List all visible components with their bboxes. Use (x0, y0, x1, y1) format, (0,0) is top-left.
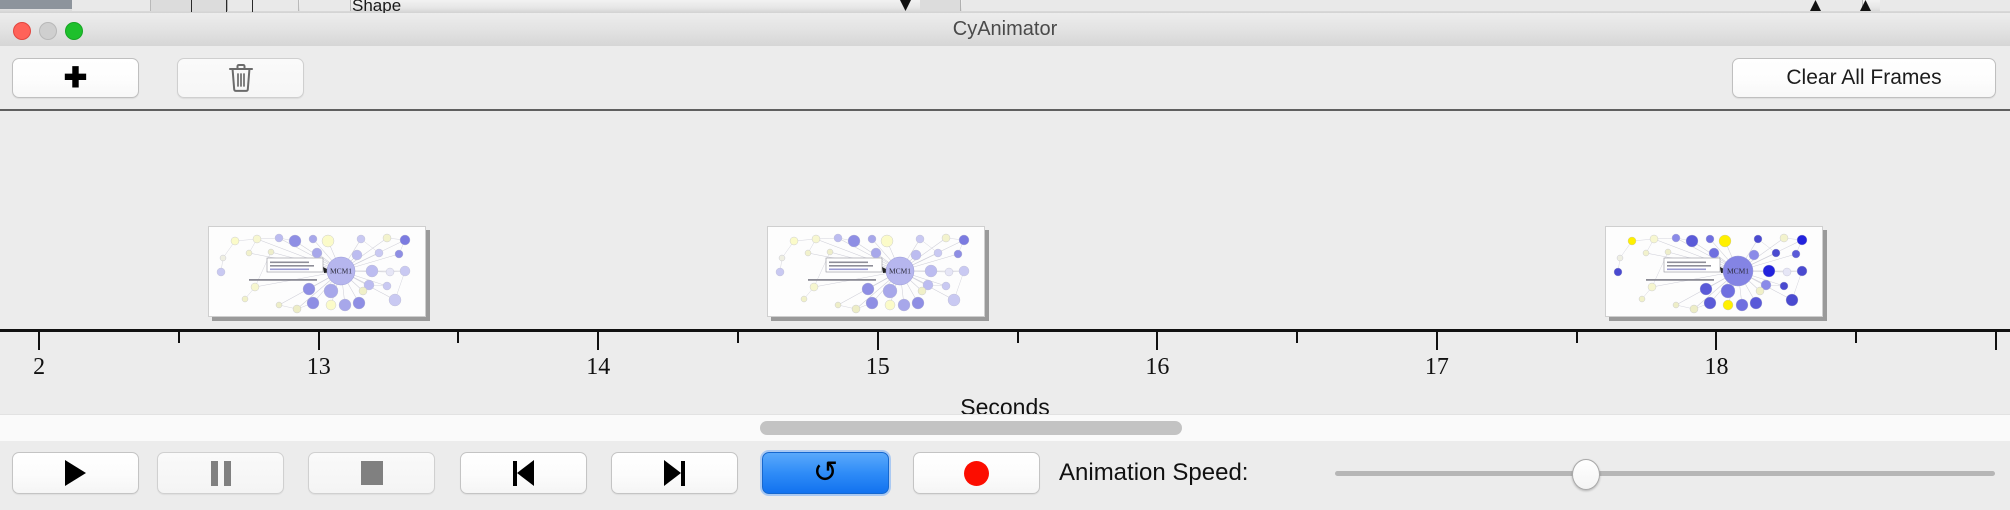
axis-tick-minor (1017, 332, 1019, 343)
delete-frame-button[interactable] (177, 58, 304, 98)
axis-tick-major (1156, 332, 1158, 350)
axis-tick-minor (1855, 332, 1857, 343)
timeline-frame[interactable]: MCM1 (1605, 226, 1827, 321)
axis-tick-major (1715, 332, 1717, 350)
frame-thumbnail[interactable]: MCM1 (767, 226, 985, 317)
skip-forward-icon (664, 460, 685, 486)
window-title: CyAnimator (0, 13, 2010, 46)
axis-tick-major (318, 332, 320, 350)
stop-button[interactable] (308, 452, 435, 494)
axis-tick-label: 17 (1425, 354, 1449, 381)
trash-icon (228, 63, 254, 93)
clear-all-frames-label: Clear All Frames (1786, 66, 1941, 90)
axis-tick-major (597, 332, 599, 350)
playback-controls: ↺ Animation Speed: (0, 441, 2010, 510)
axis-tick-label: 16 (1145, 354, 1169, 381)
record-button[interactable] (913, 452, 1040, 494)
timeline-frame[interactable]: MCM1 (208, 226, 430, 321)
axis-tick-label: 14 (586, 354, 610, 381)
axis-tick-major (1436, 332, 1438, 350)
svg-text:MCM1: MCM1 (889, 267, 911, 276)
axis-tick-minor (457, 332, 459, 343)
timeline-panel[interactable]: 2131415161718 MCM1MCM1MCM1 Seconds (0, 111, 2010, 414)
loop-button[interactable]: ↺ (762, 452, 889, 494)
scrollbar-thumb[interactable] (760, 421, 1182, 435)
timeline-axis-line (0, 329, 2010, 332)
animation-speed-label: Animation Speed: (1059, 452, 1248, 494)
axis-tick-minor (737, 332, 739, 343)
play-icon (65, 460, 86, 486)
slider-track (1335, 471, 1995, 476)
axis-title: Seconds (0, 394, 2010, 414)
cyanimator-window: Shape CyAnimator ✚ Clear All (0, 0, 2010, 510)
axis-tick-label: 2 (33, 354, 45, 381)
skip-back-icon (513, 460, 534, 486)
title-bar: CyAnimator (0, 13, 2010, 47)
background-dark-tab (0, 0, 72, 9)
axis-tick-minor (1576, 332, 1578, 343)
background-window-label: Shape (352, 0, 401, 13)
svg-text:MCM1: MCM1 (1727, 267, 1749, 276)
background-segment (228, 0, 299, 11)
frame-thumbnail[interactable]: MCM1 (208, 226, 426, 317)
axis-tick-label: 18 (1704, 354, 1728, 381)
pause-button[interactable] (157, 452, 284, 494)
loop-icon: ↺ (813, 458, 838, 488)
axis-tick-label: 15 (866, 354, 890, 381)
background-segment (192, 0, 228, 11)
axis-tick-label: 13 (307, 354, 331, 381)
skip-forward-button[interactable] (611, 452, 738, 494)
add-frame-button[interactable]: ✚ (12, 58, 139, 98)
clear-all-frames-button[interactable]: Clear All Frames (1732, 58, 1996, 98)
skip-back-button[interactable] (460, 452, 587, 494)
slider-thumb[interactable] (1572, 459, 1600, 490)
background-segment (920, 0, 961, 11)
frame-thumbnail[interactable]: MCM1 (1605, 226, 1823, 317)
axis-tick-minor (1296, 332, 1298, 343)
svg-text:MCM1: MCM1 (330, 267, 352, 276)
background-segment (151, 0, 192, 11)
background-segment (962, 0, 1863, 11)
record-icon (964, 461, 989, 486)
axis-tick-major (1995, 332, 1997, 350)
frame-toolbar: ✚ Clear All Frames (0, 46, 2010, 110)
background-notch (900, 0, 911, 11)
timeline-frame[interactable]: MCM1 (767, 226, 989, 321)
background-window-strip: Shape (0, 0, 2010, 13)
stop-icon (361, 461, 383, 485)
background-segment (300, 0, 351, 11)
background-segment (72, 0, 151, 11)
timeline-scrollbar[interactable] (0, 414, 2010, 442)
axis-tick-minor (178, 332, 180, 343)
background-segment (1880, 0, 2010, 11)
play-button[interactable] (12, 452, 139, 494)
pause-icon (211, 461, 231, 486)
axis-tick-major (877, 332, 879, 350)
axis-tick-major (38, 332, 40, 350)
animation-speed-slider[interactable] (1335, 452, 1995, 494)
